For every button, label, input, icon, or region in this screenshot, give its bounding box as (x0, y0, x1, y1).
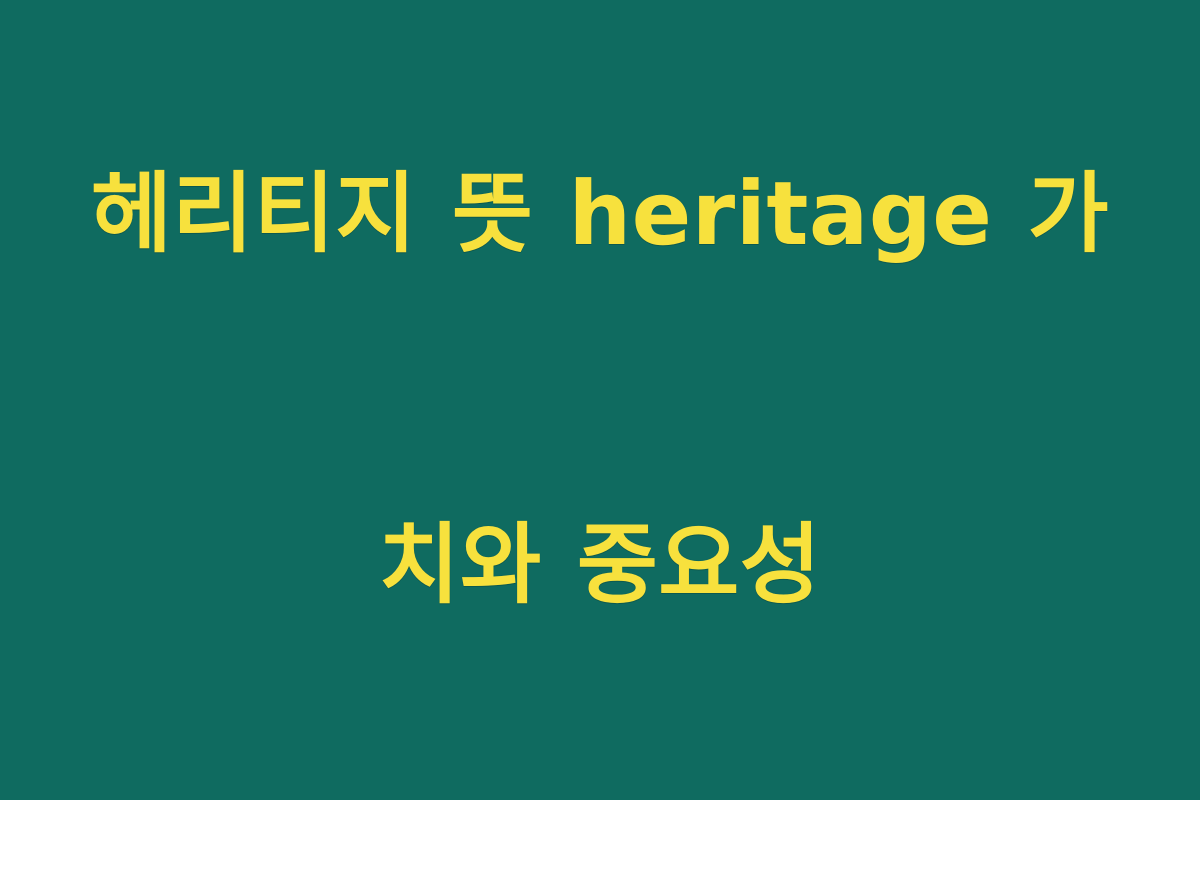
text-banner: 헤리티지 뜻 heritage 가 치와 중요성 (0, 0, 1200, 800)
headline-text: 헤리티지 뜻 heritage 가 치와 중요성 (55, 0, 1145, 879)
headline-line-2: 치와 중요성 (55, 506, 1145, 623)
headline-line-1: 헤리티지 뜻 heritage 가 (55, 155, 1145, 272)
